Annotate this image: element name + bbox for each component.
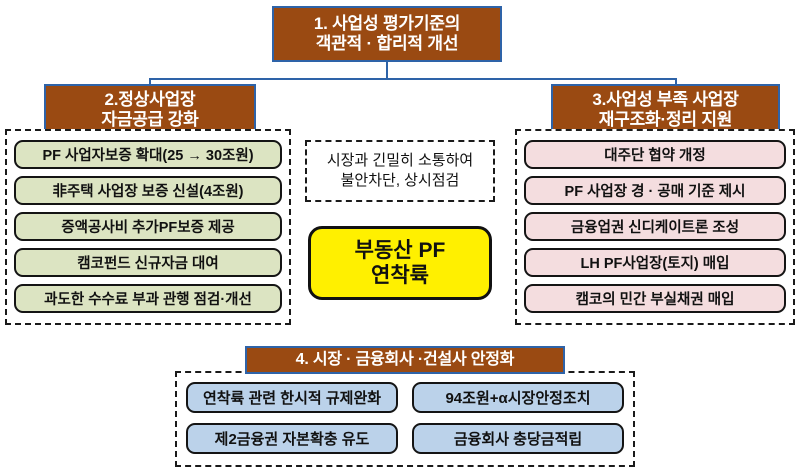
- left-item-4[interactable]: 캠코펀드 신규자금 대여: [14, 248, 282, 277]
- bottom-item-2[interactable]: 94조원+α시장안정조치: [412, 382, 624, 413]
- left-item-2[interactable]: 非주택 사업장 보증 신설(4조원): [14, 176, 282, 205]
- header-box-2-line1: 2.정상사업장: [105, 90, 196, 110]
- right-item-2[interactable]: PF 사업장 경 · 공매 기준 제시: [524, 176, 786, 205]
- header-box-1-line2: 객관적 · 합리적 개선: [316, 34, 459, 54]
- header-box-1-line1: 1. 사업성 평가기준의: [314, 14, 460, 34]
- header-box-3-line1: 3.사업성 부족 사업장: [592, 90, 738, 110]
- right-item-1[interactable]: 대주단 협약 개정: [524, 140, 786, 169]
- header-box-1: 1. 사업성 평가기준의 객관적 · 합리적 개선: [272, 6, 502, 62]
- center-note: 시장과 긴밀히 소통하여 불안차단, 상시점검: [305, 140, 495, 202]
- center-hub-line1: 부동산 PF: [355, 238, 446, 263]
- header-box-4: 4. 시장 · 금융회사 ·건설사 안정화: [245, 346, 565, 374]
- header-box-2-line2: 자금공급 강화: [101, 110, 198, 130]
- right-item-3[interactable]: 금융업권 신디케이트론 조성: [524, 212, 786, 241]
- connector-horizontal-top: [149, 78, 677, 80]
- center-note-line2: 불안차단, 상시점검: [341, 171, 460, 191]
- right-item-5[interactable]: 캠코의 민간 부실채권 매입: [524, 284, 786, 313]
- left-item-1[interactable]: PF 사업자보증 확대(25 → 30조원): [14, 140, 282, 169]
- diagram-canvas: 1. 사업성 평가기준의 객관적 · 합리적 개선 2.정상사업장 자금공급 강…: [0, 0, 800, 471]
- right-item-4[interactable]: LH PF사업장(토지) 매입: [524, 248, 786, 277]
- left-item-3[interactable]: 증액공사비 추가PF보증 제공: [14, 212, 282, 241]
- center-note-line1: 시장과 긴밀히 소통하여: [327, 151, 473, 171]
- bottom-item-1[interactable]: 연착륙 관련 한시적 규제완화: [186, 382, 398, 413]
- center-hub-box: 부동산 PF 연착륙: [308, 226, 492, 300]
- bottom-item-4[interactable]: 금융회사 충당금적립: [412, 423, 624, 454]
- bottom-item-3[interactable]: 제2금융권 자본확충 유도: [186, 423, 398, 454]
- header-box-3-line2: 재구조화·정리 지원: [599, 110, 733, 130]
- left-item-5[interactable]: 과도한 수수료 부과 관행 점검·개선: [14, 284, 282, 313]
- header-box-4-label: 4. 시장 · 금융회사 ·건설사 안정화: [296, 351, 515, 370]
- connector-vertical-top: [386, 62, 388, 79]
- center-hub-line2: 연착륙: [371, 263, 429, 288]
